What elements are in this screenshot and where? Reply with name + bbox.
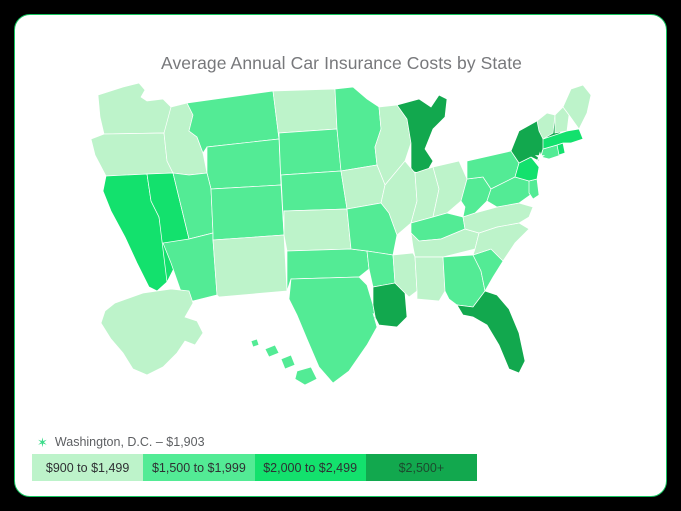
page-title: Average Annual Car Insurance Costs by St… bbox=[15, 53, 667, 74]
legend-band-3[interactable]: $2,000 to $2,499 bbox=[255, 454, 366, 481]
state-nm[interactable]: New Mexico bbox=[213, 235, 287, 297]
legend-band-2[interactable]: $1,500 to $1,999 bbox=[143, 454, 254, 481]
state-hi[interactable]: Hawaii bbox=[251, 339, 317, 385]
state-de[interactable]: Delaware bbox=[529, 179, 539, 199]
state-mn[interactable]: Minnesota bbox=[335, 87, 381, 171]
state-ak[interactable]: Alaska bbox=[101, 289, 203, 375]
state-ia[interactable]: Iowa bbox=[341, 165, 385, 209]
legend-band-1[interactable]: $900 to $1,499 bbox=[32, 454, 143, 481]
state-wa[interactable]: Washington bbox=[98, 83, 171, 134]
us-map-svg: WashingtonOregonIdahoMontanaWyomingNorth… bbox=[67, 77, 627, 427]
legend-band-1-label: $900 to $1,499 bbox=[46, 461, 129, 475]
dc-star-marker: ★ bbox=[534, 149, 546, 164]
legend-band-2-label: $1,500 to $1,999 bbox=[152, 461, 246, 475]
state-ks[interactable]: Kansas bbox=[284, 209, 351, 251]
dc-map-star-icon: ★ bbox=[534, 149, 546, 164]
states-group: WashingtonOregonIdahoMontanaWyomingNorth… bbox=[91, 83, 591, 385]
choropleth-map: WashingtonOregonIdahoMontanaWyomingNorth… bbox=[67, 77, 627, 427]
state-al[interactable]: Alabama bbox=[415, 257, 445, 301]
state-co[interactable]: Colorado bbox=[211, 185, 284, 240]
star-icon: ✶ bbox=[37, 436, 48, 449]
legend: $900 to $1,499 $1,500 to $1,999 $2,000 t… bbox=[32, 454, 477, 481]
legend-band-4[interactable]: $2,500+ bbox=[366, 454, 477, 481]
state-or[interactable]: Oregon bbox=[91, 133, 173, 176]
state-tx[interactable]: Texas bbox=[289, 277, 377, 383]
dc-annotation: ✶ Washington, D.C. – $1,903 bbox=[37, 435, 205, 449]
chart-card: Average Annual Car Insurance Costs by St… bbox=[14, 14, 667, 497]
legend-band-4-label: $2,500+ bbox=[399, 461, 445, 475]
dc-annotation-label: Washington, D.C. – $1,903 bbox=[55, 435, 205, 449]
state-wy[interactable]: Wyoming bbox=[207, 139, 281, 189]
state-ar[interactable]: Arkansas bbox=[367, 251, 395, 287]
legend-band-3-label: $2,000 to $2,499 bbox=[263, 461, 357, 475]
